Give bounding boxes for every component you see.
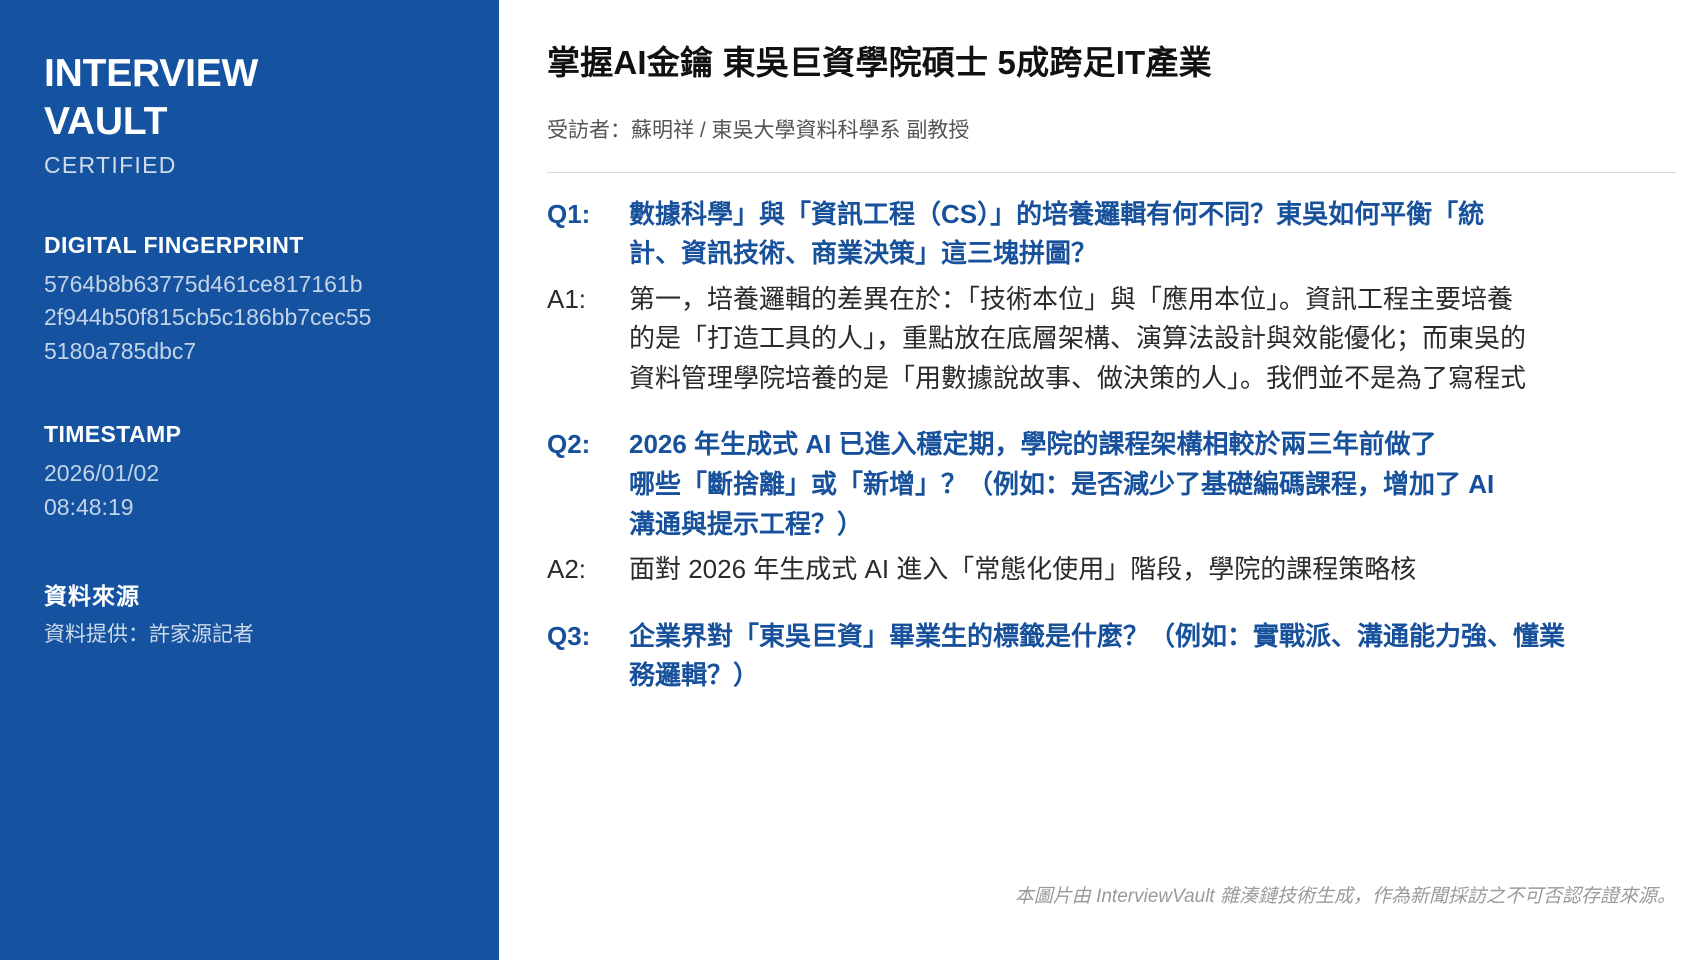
answer-row: A1:第一，培養邏輯的差異在於：「技術本位」與「應用本位」。資訊工程主要培養 的… [547, 280, 1706, 399]
question-text: 數據科學」與「資訊工程（CS）」的培養邏輯有何不同？東吳如何平衡「統 計、資訊技… [629, 195, 1706, 274]
timestamp-value: 2026/01/02 08:48:19 [44, 457, 455, 524]
brand-name-line1: INTERVIEW [44, 50, 455, 98]
question-row[interactable]: Q2:2026 年生成式 AI 已進入穩定期，學院的課程架構相較於兩三年前做了 … [547, 425, 1706, 544]
answer-label: A1: [547, 280, 629, 320]
question-row[interactable]: Q1:數據科學」與「資訊工程（CS）」的培養邏輯有何不同？東吳如何平衡「統 計、… [547, 195, 1706, 274]
digital-fingerprint-section: DIGITAL FINGERPRINT 5764b8b63775d461ce81… [44, 232, 455, 369]
timestamp-section: TIMESTAMP 2026/01/02 08:48:19 [44, 421, 455, 524]
certified-badge: CERTIFIED [44, 152, 455, 179]
qa-list: Q1:數據科學」與「資訊工程（CS）」的培養邏輯有何不同？東吳如何平衡「統 計、… [547, 195, 1706, 696]
question-row[interactable]: Q3:企業界對「東吳巨資」畢業生的標籤是什麼？（例如：實戰派、溝通能力強、懂業 … [547, 617, 1706, 696]
page-title: 掌握AI金鑰 東吳巨資學院碩士 5成跨足IT產業 [547, 42, 1706, 85]
answer-text: 第一，培養邏輯的差異在於：「技術本位」與「應用本位」。資訊工程主要培養 的是「打… [629, 280, 1706, 399]
source-label: 資料來源 [44, 577, 455, 611]
qa-block: Q1:數據科學」與「資訊工程（CS）」的培養邏輯有何不同？東吳如何平衡「統 計、… [547, 195, 1706, 399]
answer-row: A2:面對 2026 年生成式 AI 進入「常態化使用」階段，學院的課程策略核 [547, 550, 1706, 590]
header-divider [547, 172, 1676, 173]
brand-block: INTERVIEW VAULT CERTIFIED [44, 50, 455, 179]
bottom-rule [499, 954, 1706, 960]
answer-text: 面對 2026 年生成式 AI 進入「常態化使用」階段，學院的課程策略核 [629, 550, 1706, 590]
question-label: Q3: [547, 617, 629, 657]
brand-name-line2: VAULT [44, 98, 455, 146]
qa-block: Q2:2026 年生成式 AI 已進入穩定期，學院的課程架構相較於兩三年前做了 … [547, 425, 1706, 589]
certified-interview-card: INTERVIEW VAULT CERTIFIED DIGITAL FINGER… [0, 0, 1706, 960]
digital-fingerprint-label: DIGITAL FINGERPRINT [44, 232, 455, 259]
answer-label: A2: [547, 550, 629, 590]
digital-fingerprint-hash: 5764b8b63775d461ce817161b2f944b50f815cb5… [44, 268, 374, 369]
question-text: 2026 年生成式 AI 已進入穩定期，學院的課程架構相較於兩三年前做了 哪些「… [629, 425, 1706, 544]
qa-block: Q3:企業界對「東吳巨資」畢業生的標籤是什麼？（例如：實戰派、溝通能力強、懂業 … [547, 617, 1706, 696]
timestamp-label: TIMESTAMP [44, 421, 455, 448]
footer-disclaimer: 本圖片由 InterviewVault 雜湊鏈技術生成，作為新聞採訪之不可否認存… [1015, 881, 1676, 908]
sidebar: INTERVIEW VAULT CERTIFIED DIGITAL FINGER… [0, 0, 499, 960]
main-content: 掌握AI金鑰 東吳巨資學院碩士 5成跨足IT產業 受訪者：蘇明祥 / 東吳大學資… [499, 0, 1706, 960]
source-credit: 資料提供：許家源記者 [44, 620, 455, 650]
question-label: Q2: [547, 425, 629, 465]
question-text: 企業界對「東吳巨資」畢業生的標籤是什麼？（例如：實戰派、溝通能力強、懂業 務邏輯… [629, 617, 1706, 696]
source-section: 資料來源 資料提供：許家源記者 [44, 577, 455, 650]
question-label: Q1: [547, 195, 629, 235]
interviewee-line: 受訪者：蘇明祥 / 東吳大學資料科學系 副教授 [547, 114, 1706, 144]
